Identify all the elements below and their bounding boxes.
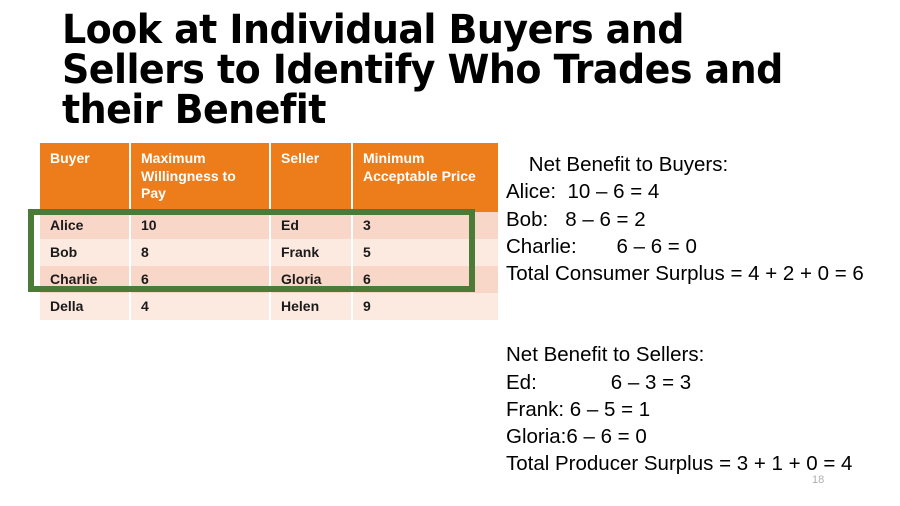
cell-buyer: Bob bbox=[40, 239, 130, 266]
cell-seller: Helen bbox=[270, 293, 352, 320]
cell-max-willingness-to-pay: 4 bbox=[130, 293, 270, 320]
cell-max-willingness-to-pay: 8 bbox=[130, 239, 270, 266]
column-header-minimum-acceptable-price: Minimum Acceptable Price bbox=[352, 143, 498, 212]
note-buyer-bob: Bob: 8 – 6 = 2 bbox=[506, 208, 646, 231]
note-seller-gloria: Gloria:6 – 6 = 0 bbox=[506, 425, 647, 448]
cell-minimum-acceptable-price: 6 bbox=[352, 266, 498, 293]
column-header-seller: Seller bbox=[270, 143, 352, 212]
cell-seller: Ed bbox=[270, 212, 352, 239]
buyers-and-sellers-table: Buyer Maximum Willingness to Pay Seller … bbox=[40, 143, 498, 320]
note-spacer bbox=[506, 287, 900, 314]
note-seller-frank: Frank: 6 – 5 = 1 bbox=[506, 398, 650, 421]
note-spacer bbox=[506, 477, 900, 504]
cell-buyer: Alice bbox=[40, 212, 130, 239]
note-sellers-heading: Net Benefit to Sellers: bbox=[506, 343, 704, 366]
cell-seller: Gloria bbox=[270, 266, 352, 293]
cell-minimum-acceptable-price: 3 bbox=[352, 212, 498, 239]
table-container: Buyer Maximum Willingness to Pay Seller … bbox=[40, 143, 498, 320]
net-benefit-notes: Net Benefit to Buyers: Alice: 10 – 6 = 4… bbox=[506, 124, 900, 506]
note-total-producer-surplus: Total Producer Surplus = 3 + 1 + 0 = 4 bbox=[506, 452, 852, 475]
cell-buyer: Della bbox=[40, 293, 130, 320]
note-buyer-alice: Alice: 10 – 6 = 4 bbox=[506, 180, 659, 203]
slide-canvas: Look at Individual Buyers and Sellers to… bbox=[0, 0, 900, 506]
table-row: Alice 10 Ed 3 bbox=[40, 212, 498, 239]
note-seller-ed: Ed: 6 – 3 = 3 bbox=[506, 371, 691, 394]
cell-seller: Frank bbox=[270, 239, 352, 266]
table-header-row: Buyer Maximum Willingness to Pay Seller … bbox=[40, 143, 498, 212]
note-buyer-charlie: Charlie: 6 – 6 = 0 bbox=[506, 235, 697, 258]
column-header-max-willingness-to-pay: Maximum Willingness to Pay bbox=[130, 143, 270, 212]
page-title: Look at Individual Buyers and Sellers to… bbox=[62, 10, 822, 130]
table-row: Della 4 Helen 9 bbox=[40, 293, 498, 320]
note-total-consumer-surplus: Total Consumer Surplus = 4 + 2 + 0 = 6 bbox=[506, 262, 864, 285]
cell-max-willingness-to-pay: 10 bbox=[130, 212, 270, 239]
cell-minimum-acceptable-price: 9 bbox=[352, 293, 498, 320]
table-row: Charlie 6 Gloria 6 bbox=[40, 266, 498, 293]
table-row: Bob 8 Frank 5 bbox=[40, 239, 498, 266]
cell-max-willingness-to-pay: 6 bbox=[130, 266, 270, 293]
cell-buyer: Charlie bbox=[40, 266, 130, 293]
cell-minimum-acceptable-price: 5 bbox=[352, 239, 498, 266]
column-header-buyer: Buyer bbox=[40, 143, 130, 212]
page-number: 18 bbox=[812, 474, 824, 486]
note-buyers-heading: Net Benefit to Buyers: bbox=[529, 153, 728, 176]
